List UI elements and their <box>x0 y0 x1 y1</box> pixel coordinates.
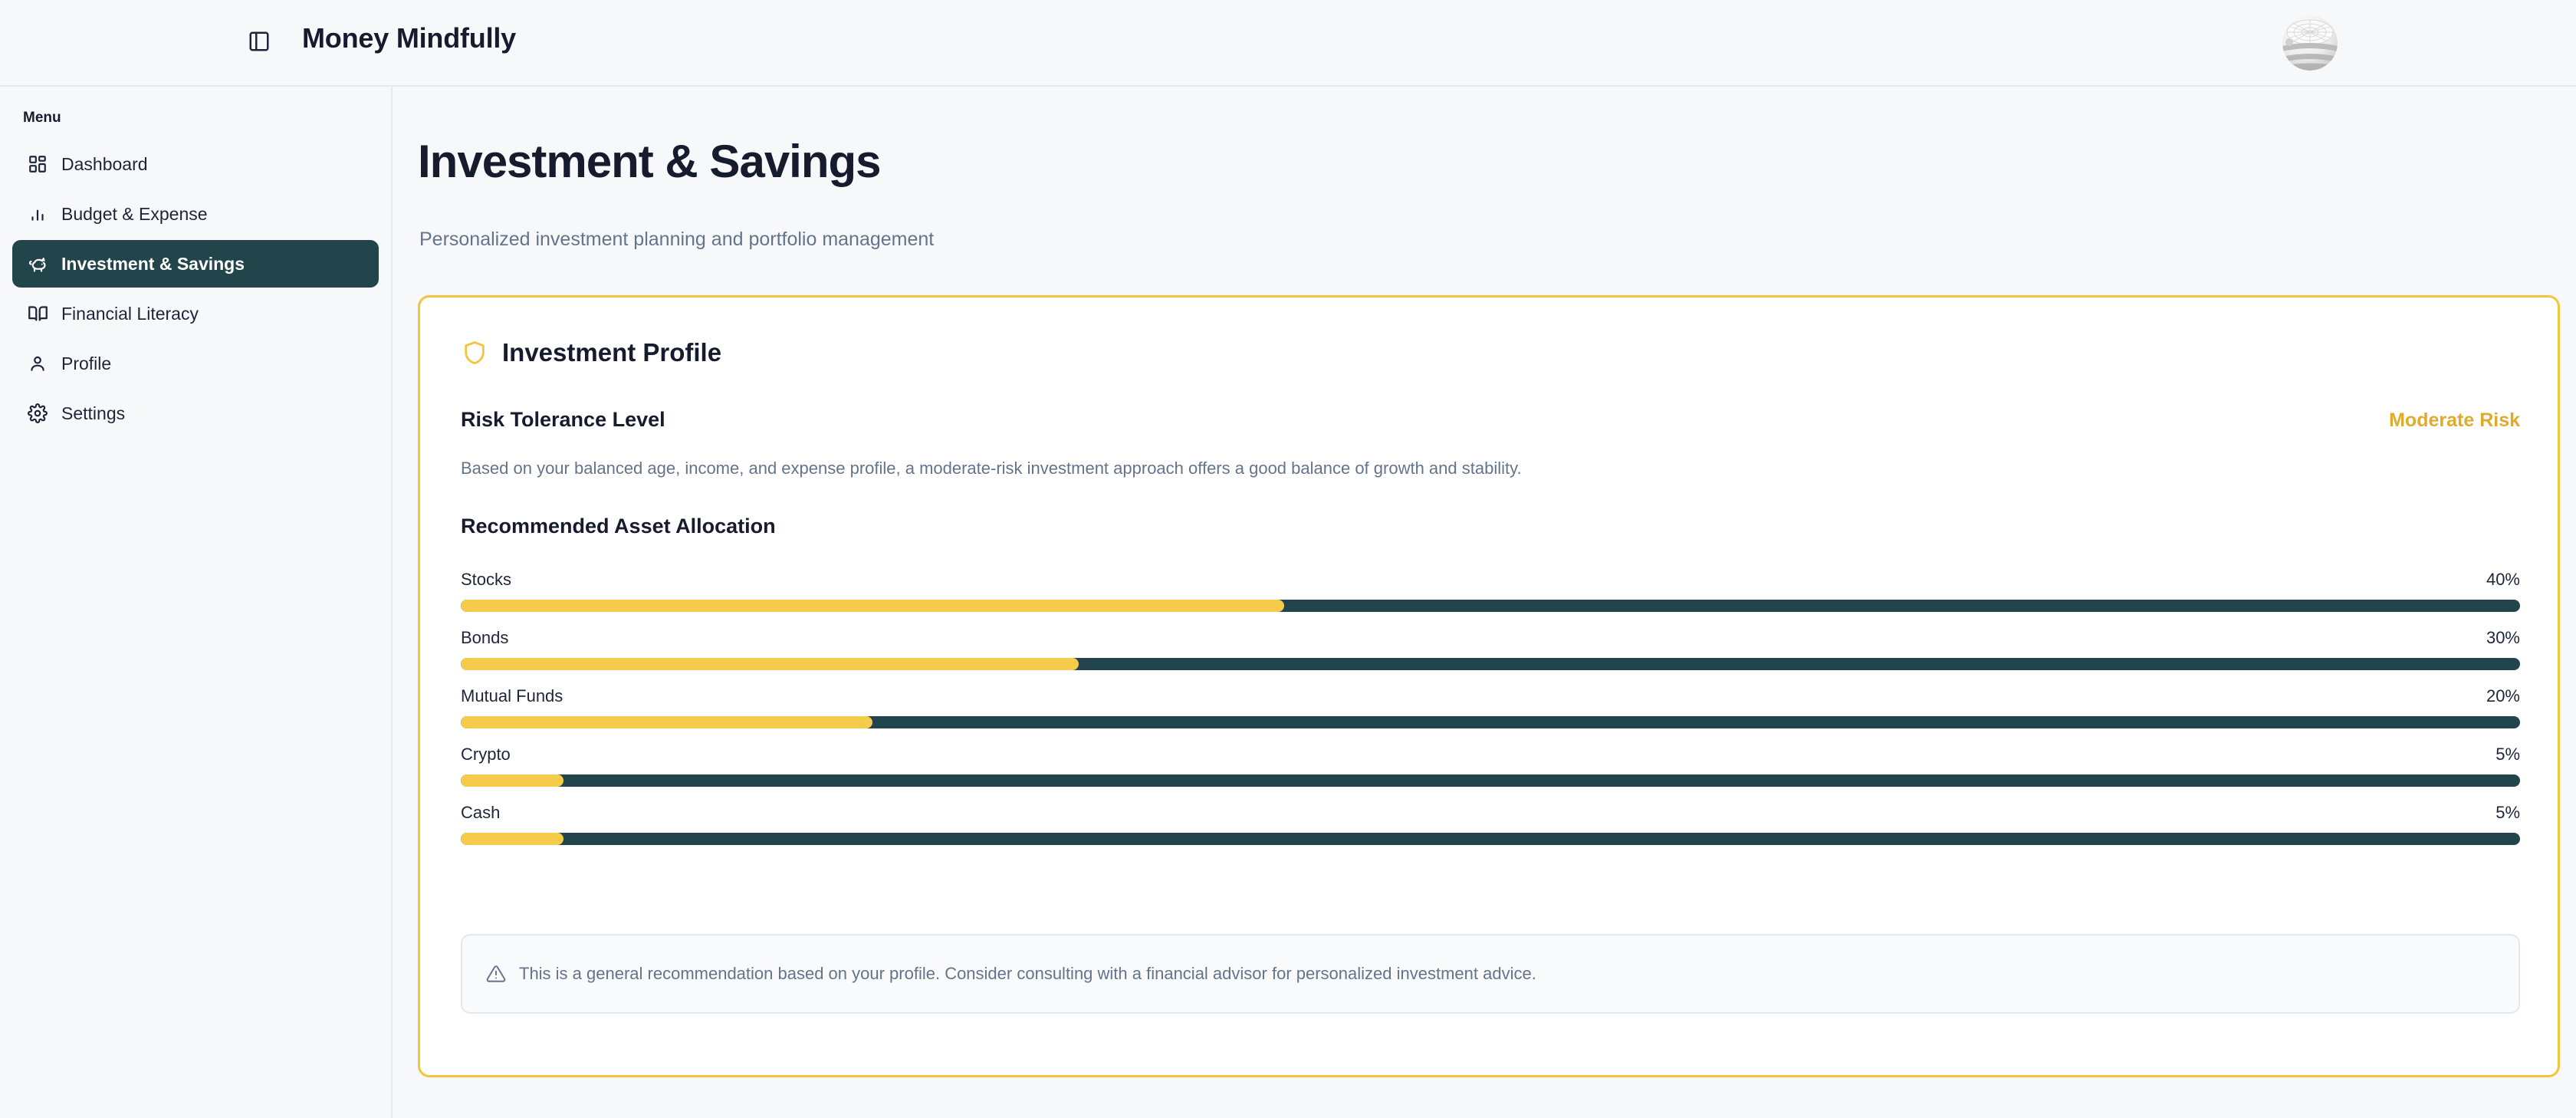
allocation-row: Cash 5% <box>461 803 2520 845</box>
asset-allocation-list: Stocks 40% Bonds 30% Mutual Funds <box>461 570 2520 845</box>
allocation-value: 40% <box>2486 570 2520 590</box>
sidebar-item-budget-expense[interactable]: Budget & Expense <box>12 190 379 238</box>
allocation-label: Stocks <box>461 570 511 590</box>
allocation-row: Bonds 30% <box>461 628 2520 670</box>
disclaimer-box: This is a general recommendation based o… <box>461 934 2520 1014</box>
sidebar-item-label: Profile <box>61 353 111 374</box>
allocation-label: Cash <box>461 803 500 823</box>
card-title: Investment Profile <box>502 338 721 367</box>
allocation-row: Crypto 5% <box>461 745 2520 787</box>
allocation-label: Crypto <box>461 745 511 765</box>
sidebar-item-label: Budget & Expense <box>61 204 208 225</box>
sidebar-item-label: Investment & Savings <box>61 254 245 275</box>
sidebar-item-label: Financial Literacy <box>61 304 199 324</box>
allocation-row: Stocks 40% <box>461 570 2520 612</box>
page-subtitle: Personalized investment planning and por… <box>419 229 934 251</box>
panel-toggle-icon <box>248 30 271 57</box>
alert-triangle-icon <box>486 963 508 985</box>
allocation-value: 5% <box>2495 745 2520 765</box>
avatar[interactable] <box>2282 15 2338 71</box>
sidebar-section-label: Menu <box>23 110 391 127</box>
allocation-bar-fill <box>461 600 1284 612</box>
user-avatar-image <box>2282 15 2338 71</box>
piggy-bank-icon <box>26 252 49 275</box>
allocation-bar-track <box>461 716 2520 728</box>
app-title: Money Mindfully <box>302 22 516 54</box>
sidebar-toggle-button[interactable] <box>242 26 276 60</box>
disclaimer-text: This is a general recommendation based o… <box>519 964 1536 984</box>
allocation-label: Bonds <box>461 628 508 648</box>
sidebar: Menu Dashboard Budget & Expense <box>0 87 393 1118</box>
risk-level-badge: Moderate Risk <box>2389 409 2520 432</box>
allocation-bar-track <box>461 774 2520 787</box>
sidebar-item-dashboard[interactable]: Dashboard <box>12 140 379 188</box>
allocation-bar-fill <box>461 774 563 787</box>
allocation-bar-fill <box>461 658 1079 670</box>
allocation-bar-track <box>461 833 2520 845</box>
top-bar: Money Mindfully <box>0 0 2576 87</box>
user-icon <box>26 352 49 375</box>
allocation-value: 30% <box>2486 628 2520 648</box>
allocation-value: 5% <box>2495 803 2520 823</box>
sidebar-item-label: Settings <box>61 403 125 424</box>
allocation-bar-track <box>461 658 2520 670</box>
sidebar-item-financial-literacy[interactable]: Financial Literacy <box>12 290 379 337</box>
sidebar-item-investment-savings[interactable]: Investment & Savings <box>12 240 379 288</box>
sidebar-item-profile[interactable]: Profile <box>12 340 379 387</box>
shield-icon <box>462 339 489 367</box>
card-header: Investment Profile <box>420 298 2558 367</box>
sidebar-item-label: Dashboard <box>61 154 148 175</box>
allocation-bar-fill <box>461 833 563 845</box>
gear-icon <box>26 402 49 425</box>
grid-icon <box>26 153 49 176</box>
risk-description: Based on your balanced age, income, and … <box>461 459 1522 478</box>
risk-tolerance-row: Risk Tolerance Level Moderate Risk <box>461 408 2520 432</box>
book-open-icon <box>26 302 49 325</box>
allocation-row: Mutual Funds 20% <box>461 686 2520 728</box>
allocation-bar-fill <box>461 716 872 728</box>
sidebar-item-settings[interactable]: Settings <box>12 390 379 437</box>
allocation-bar-track <box>461 600 2520 612</box>
page-title: Investment & Savings <box>418 135 881 188</box>
allocation-label: Mutual Funds <box>461 686 563 706</box>
investment-profile-card: Investment Profile Risk Tolerance Level … <box>418 295 2560 1077</box>
allocation-title: Recommended Asset Allocation <box>461 515 776 538</box>
bar-chart-icon <box>26 202 49 225</box>
risk-tolerance-title: Risk Tolerance Level <box>461 408 665 432</box>
main-content: Investment & Savings Personalized invest… <box>393 87 2576 1118</box>
allocation-value: 20% <box>2486 686 2520 706</box>
